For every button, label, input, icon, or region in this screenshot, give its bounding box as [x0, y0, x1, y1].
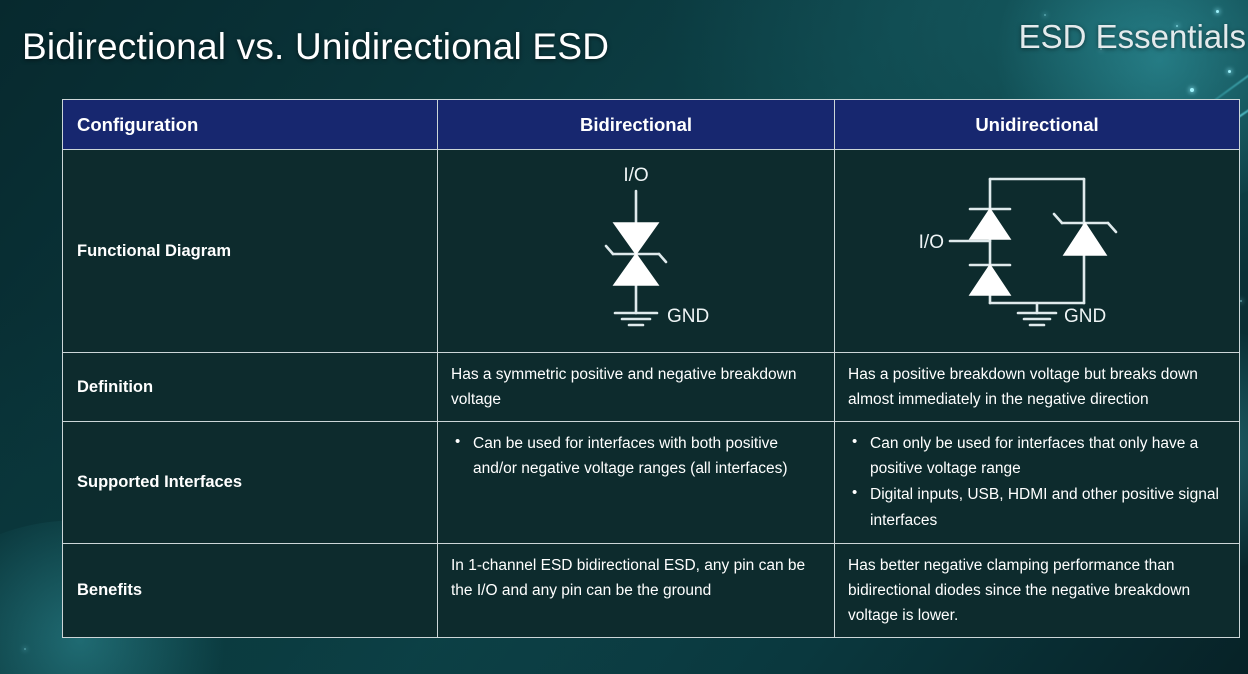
particle-dot: [1216, 10, 1219, 13]
particle-dot: [1044, 14, 1046, 16]
bullet-list: Can only be used for interfaces that onl…: [848, 431, 1227, 532]
unidirectional-functional-diagram-cell: I/O GND: [835, 150, 1240, 353]
slide-canvas: Bidirectional vs. Unidirectional ESD ESD…: [0, 0, 1248, 674]
table-body: Functional Diagram: [63, 150, 1240, 638]
diode-triangle-up: [614, 254, 658, 285]
unidirectional-esd-circuit-icon: I/O GND: [912, 161, 1162, 341]
table-row-functional-diagram: Functional Diagram: [63, 150, 1240, 353]
bidirectional-functional-diagram-cell: I/O GND: [438, 150, 835, 353]
unidirectional-io-label: I/O: [919, 232, 944, 253]
table-row-supported-interfaces: Supported Interfaces Can be used for int…: [63, 422, 1240, 543]
table-header: Configuration Bidirectional Unidirection…: [63, 100, 1240, 150]
diode-triangle-down: [614, 223, 658, 254]
particle-dot: [1240, 300, 1242, 302]
supported-interfaces-bidirectional-cell: Can be used for interfaces with both pos…: [438, 422, 835, 543]
list-item: Can only be used for interfaces that onl…: [848, 431, 1227, 481]
row-label-benefits: Benefits: [63, 543, 438, 637]
steering-diode-lower-icon: [970, 265, 1010, 295]
list-item: Digital inputs, USB, HDMI and other posi…: [848, 482, 1227, 532]
definition-unidirectional-cell: Has a positive breakdown voltage but bre…: [835, 353, 1240, 422]
bidirectional-tvs-diode-icon: I/O GND: [541, 161, 731, 341]
table-row-benefits: Benefits In 1-channel ESD bidirectional …: [63, 543, 1240, 637]
table-header-row: Configuration Bidirectional Unidirection…: [63, 100, 1240, 150]
list-item: Can be used for interfaces with both pos…: [451, 431, 822, 481]
particle-dot: [1190, 88, 1194, 92]
column-header-bidirectional: Bidirectional: [438, 100, 835, 150]
bidirectional-io-label: I/O: [623, 165, 648, 186]
definition-bidirectional-cell: Has a symmetric positive and negative br…: [438, 353, 835, 422]
particle-dot: [1228, 70, 1231, 73]
slide-kicker: ESD Essentials: [1019, 18, 1246, 56]
bidirectional-gnd-label: GND: [667, 306, 709, 327]
benefits-unidirectional-cell: Has better negative clamping performance…: [835, 543, 1240, 637]
steering-diode-upper-icon: [970, 209, 1010, 239]
row-label-definition: Definition: [63, 353, 438, 422]
supported-interfaces-unidirectional-cell: Can only be used for interfaces that onl…: [835, 422, 1240, 543]
table-row-definition: Definition Has a symmetric positive and …: [63, 353, 1240, 422]
benefits-bidirectional-cell: In 1-channel ESD bidirectional ESD, any …: [438, 543, 835, 637]
page-title: Bidirectional vs. Unidirectional ESD: [22, 26, 609, 68]
comparison-table: Configuration Bidirectional Unidirection…: [62, 99, 1240, 638]
row-label-supported-interfaces: Supported Interfaces: [63, 422, 438, 543]
zener-clamp-diode-icon: [1064, 223, 1106, 255]
bullet-list: Can be used for interfaces with both pos…: [451, 431, 822, 481]
column-header-configuration: Configuration: [63, 100, 438, 150]
particle-dot: [24, 648, 26, 650]
column-header-unidirectional: Unidirectional: [835, 100, 1240, 150]
row-label-functional-diagram: Functional Diagram: [63, 150, 438, 353]
unidirectional-gnd-label: GND: [1064, 306, 1106, 327]
